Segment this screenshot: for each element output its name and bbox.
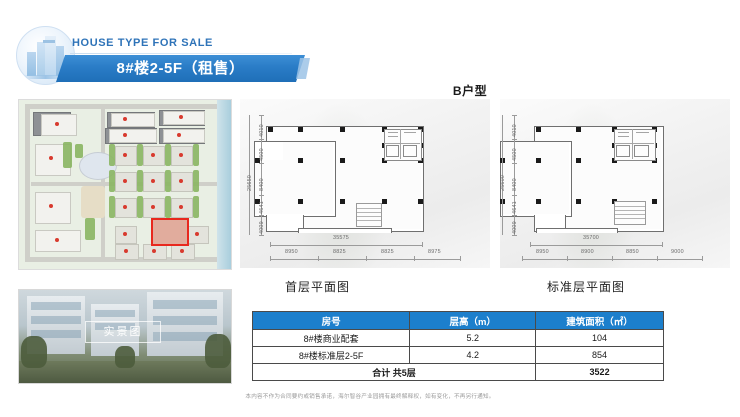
slide-root: HOUSE TYPE FOR SALE 8#楼2-5F（租售）	[0, 0, 740, 417]
slide-header: HOUSE TYPE FOR SALE 8#楼2-5F（租售）	[0, 8, 330, 80]
site-masterplan-image	[18, 99, 232, 270]
unit-spec-table: 房号 层高（m） 建筑面积（㎡） 8#楼商业配套 5.2 104 8#楼标准层2…	[252, 311, 664, 381]
caption-standard-floor: 标准层平面图	[547, 278, 625, 295]
dim-v-2-standard: 4500	[512, 148, 518, 161]
cell-total-area: 3522	[536, 364, 664, 381]
table-row: 8#楼商业配套 5.2 104	[253, 330, 664, 347]
plan-captions: 首层平面图 标准层平面图	[240, 278, 700, 296]
dim-v-4-first: 4641	[259, 201, 265, 214]
project-photo: 实景图	[18, 289, 232, 384]
cell-total-label: 合计 共5层	[253, 364, 536, 381]
dim-v-1-first: 4010	[259, 124, 265, 137]
page-title: 8#楼2-5F（租售）	[56, 55, 305, 82]
cell-area: 104	[536, 330, 664, 347]
column-header-area: 建筑面积（㎡）	[536, 312, 664, 330]
disclaimer-text: 本内容不作为合同要约或销售承诺，海尔智谷产业园拥有最终解释权，如有变化，不再另行…	[0, 392, 740, 400]
caption-first-floor: 首层平面图	[285, 278, 350, 295]
dim-v-5-first: 4009	[259, 221, 265, 234]
dim-v-4-standard: 4641	[512, 201, 518, 214]
table-row: 8#楼标准层2-5F 4.2 854	[253, 347, 664, 364]
plan-section-title: B户型	[240, 82, 700, 99]
dim-v-2-first: 4500	[259, 148, 265, 161]
dim-h-1-standard: 8950	[536, 249, 549, 255]
photo-caption-label: 实景图	[85, 321, 161, 343]
cell-room-name: 8#楼商业配套	[253, 330, 410, 347]
cell-floor-height: 5.2	[410, 330, 536, 347]
cell-area: 854	[536, 347, 664, 364]
header-eyebrow: HOUSE TYPE FOR SALE	[72, 34, 213, 53]
cell-room-name: 8#楼标准层2-5F	[253, 347, 410, 364]
header-title-bar: 8#楼2-5F（租售）	[56, 55, 305, 82]
dim-v-total-standard: 25600	[500, 175, 506, 191]
dim-h-3-first: 8825	[381, 249, 394, 255]
dim-h-4-first: 8975	[428, 249, 441, 255]
table-header-row: 房号 层高（m） 建筑面积（㎡）	[253, 312, 664, 330]
cell-floor-height: 4.2	[410, 347, 536, 364]
dim-h-2-first: 8825	[333, 249, 346, 255]
dim-v-3-first: 8400	[259, 178, 265, 191]
dim-v-5-standard: 4009	[512, 221, 518, 234]
header-rule	[70, 53, 292, 54]
dim-h-4-standard: 9000	[671, 249, 684, 255]
first-floor-plan: 35575 8950 8825 8825 8975 4010 4500 8400…	[240, 99, 490, 268]
dim-v-1-standard: 4010	[512, 124, 518, 137]
dim-h-3-standard: 8850	[626, 249, 639, 255]
standard-floor-plan: 35700 8950 8900 8850 9000 4010 4500 8400…	[500, 99, 730, 268]
highlighted-building-marker	[151, 218, 189, 246]
dim-v-3-standard: 8400	[512, 178, 518, 191]
dim-h-total-first: 35575	[333, 235, 349, 241]
dim-h-2-standard: 8900	[581, 249, 594, 255]
table-total-row: 合计 共5层 3522	[253, 364, 664, 381]
dim-h-total-standard: 35700	[583, 235, 599, 241]
dim-v-total-first: 25650	[247, 175, 253, 191]
column-header-room: 房号	[253, 312, 410, 330]
column-header-floor-height: 层高（m）	[410, 312, 536, 330]
dim-h-1-first: 8950	[285, 249, 298, 255]
